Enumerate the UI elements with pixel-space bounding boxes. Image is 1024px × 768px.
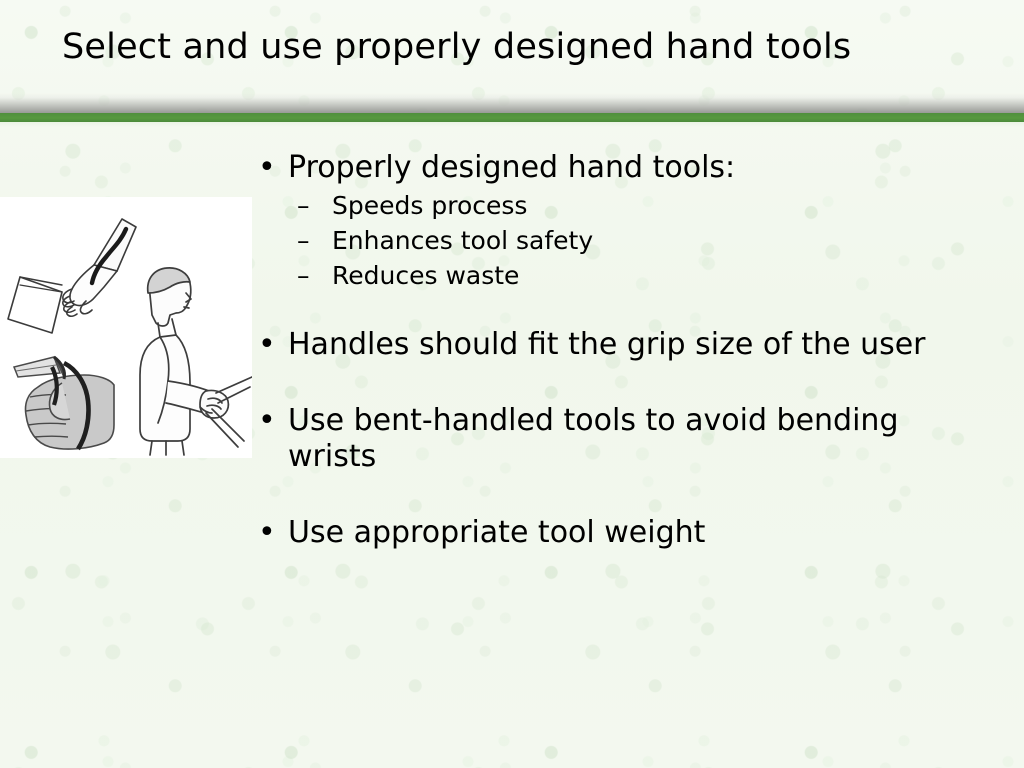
bullet-marker: • <box>258 327 276 363</box>
hand-tools-illustration <box>0 197 252 458</box>
title-placeholder: Select and use properly designed hand to… <box>62 22 982 78</box>
sub-bullet-list-1: – Speeds process – Enhances tool safety … <box>252 188 1012 293</box>
sub-bullet-item-1-2: – Enhances tool safety <box>252 223 1012 258</box>
bullet-item-1: • Properly designed hand tools: <box>252 150 968 186</box>
spacer <box>252 293 1012 327</box>
bullet-marker: • <box>258 515 276 551</box>
bullet-item-3: • Use bent-handled tools to avoid bendin… <box>252 403 968 475</box>
sub-bullet-item-1-3: – Reduces waste <box>252 258 1012 293</box>
sub-bullet-text: Reduces waste <box>332 261 519 290</box>
slide-canvas: Select and use properly designed hand to… <box>0 0 1024 768</box>
spacer <box>252 475 1012 515</box>
divider-gray-gradient <box>0 93 1024 114</box>
bullet-text: Handles should fit the grip size of the … <box>288 327 926 362</box>
spacer <box>252 363 1012 403</box>
dash-marker: – <box>297 223 310 258</box>
divider-bottom-fade <box>0 122 1024 127</box>
bullet-text: Properly designed hand tools: <box>288 150 735 185</box>
bullet-item-2: • Handles should fit the grip size of th… <box>252 327 968 363</box>
bullet-item-4: • Use appropriate tool weight <box>252 515 968 551</box>
dash-marker: – <box>297 258 310 293</box>
dash-marker: – <box>297 188 310 223</box>
title-divider <box>0 93 1024 123</box>
bullet-text: Use appropriate tool weight <box>288 515 705 550</box>
bullet-marker: • <box>258 403 276 439</box>
bullet-marker: • <box>258 150 276 186</box>
divider-green-bar <box>0 113 1024 122</box>
sub-bullet-text: Speeds process <box>332 191 527 220</box>
page-title: Select and use properly designed hand to… <box>62 22 982 72</box>
hand-tools-illustration-graphic <box>0 197 252 458</box>
sub-bullet-item-1-1: – Speeds process <box>252 188 1012 223</box>
sub-bullet-text: Enhances tool safety <box>332 226 593 255</box>
body-placeholder: • Properly designed hand tools: – Speeds… <box>252 150 1012 551</box>
bullet-text: Use bent-handled tools to avoid bending … <box>288 403 899 474</box>
